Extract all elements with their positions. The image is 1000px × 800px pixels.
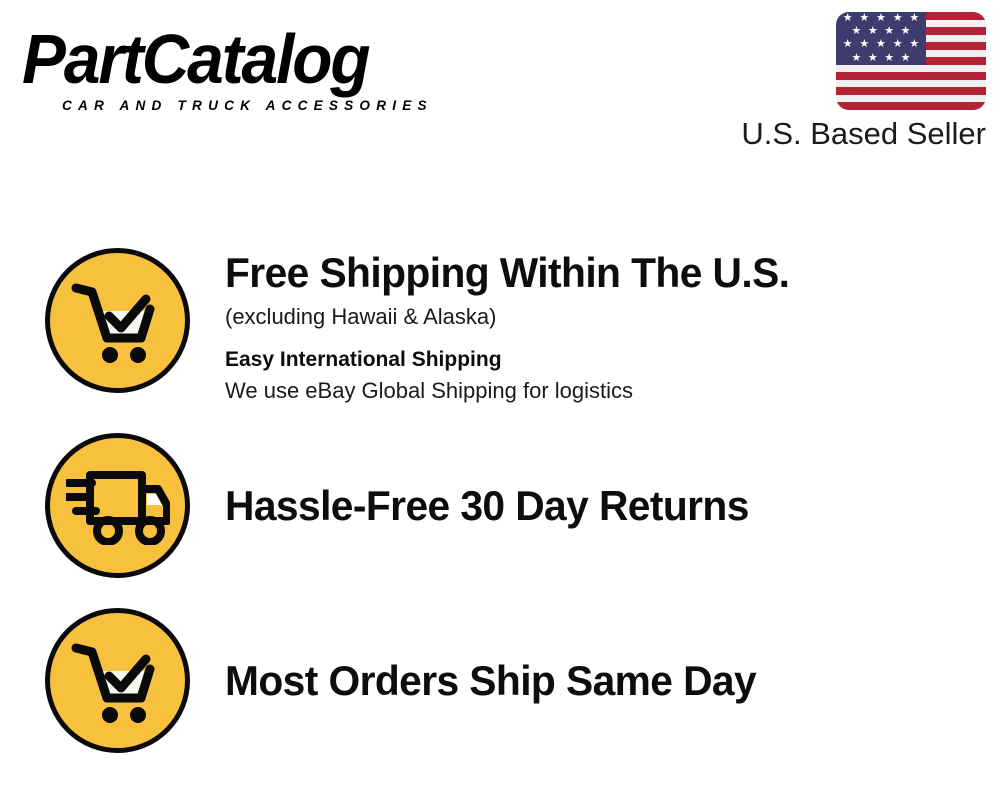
seller-badge-label: U.S. Based Seller [686, 116, 986, 152]
us-flag-icon: ★★★★★ ★★★★ ★★★★★ ★★★★ [836, 12, 986, 110]
flag-stripe [836, 72, 986, 80]
brand-wordmark: PartCatalog [22, 22, 464, 96]
feature-heading: Free Shipping Within The U.S. [225, 248, 977, 298]
feature-heading: Most Orders Ship Same Day [225, 656, 977, 706]
delivery-truck-icon [45, 433, 190, 578]
promo-banner: PartCatalog CAR AND TRUCK ACCESSORIES [0, 0, 1000, 800]
flag-star-row: ★★★★ [836, 25, 926, 38]
flag-stripe [836, 87, 986, 95]
feature-heading: Hassle-Free 30 Day Returns [225, 481, 977, 531]
flag-stripe [836, 80, 986, 88]
feature-row: Free Shipping Within The U.S. (excluding… [0, 248, 1000, 406]
flag-star-row: ★★★★★ [836, 12, 926, 25]
flag-star-row: ★★★★ [836, 52, 926, 65]
feature-text-block: Free Shipping Within The U.S. (excluding… [190, 248, 1000, 406]
feature-text-block: Most Orders Ship Same Day [190, 656, 1000, 706]
feature-subtext: (excluding Hawaii & Alaska) [225, 302, 1000, 332]
feature-list: Free Shipping Within The U.S. (excluding… [0, 232, 1000, 753]
shopping-cart-check-icon [45, 248, 190, 393]
feature-subtext-detail: We use eBay Global Shipping for logistic… [225, 376, 1000, 406]
brand-tagline: CAR AND TRUCK ACCESSORIES [62, 97, 479, 113]
flag-canton: ★★★★★ ★★★★ ★★★★★ ★★★★ [836, 12, 926, 65]
feature-subtext-bold: Easy International Shipping [225, 346, 1000, 374]
brand-logo: PartCatalog CAR AND TRUCK ACCESSORIES [22, 22, 492, 113]
flag-star-row: ★★★★★ [836, 38, 926, 51]
shopping-cart-check-icon [45, 608, 190, 753]
feature-row: Most Orders Ship Same Day [0, 608, 1000, 753]
feature-text-block: Hassle-Free 30 Day Returns [190, 481, 1000, 531]
flag-stripe [836, 95, 986, 103]
flag-stripe [836, 102, 986, 110]
seller-badge: ★★★★★ ★★★★ ★★★★★ ★★★★ U.S. Based Seller [686, 12, 986, 152]
banner-header: PartCatalog CAR AND TRUCK ACCESSORIES [0, 0, 1000, 175]
feature-row: Hassle-Free 30 Day Returns [0, 433, 1000, 578]
flag-stripe [836, 65, 986, 73]
